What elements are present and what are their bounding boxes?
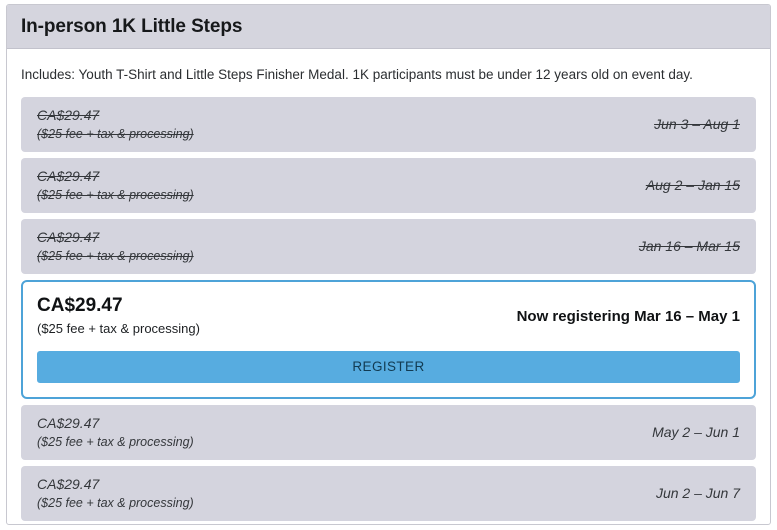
- price-date-range: Jan 16 – Mar 15: [639, 238, 740, 254]
- price-left: CA$29.47 ($25 fee + tax & processing): [37, 166, 194, 205]
- price-amount: CA$29.47: [37, 474, 194, 494]
- price-fine-print: ($25 fee + tax & processing): [37, 247, 194, 266]
- price-left: CA$29.47 ($25 fee + tax & processing): [37, 413, 194, 452]
- price-amount: CA$29.47: [37, 105, 194, 125]
- price-fine-print: ($25 fee + tax & processing): [37, 125, 194, 144]
- includes-description: Includes: Youth T-Shirt and Little Steps…: [21, 49, 756, 97]
- price-left: CA$29.47 ($25 fee + tax & processing): [37, 105, 194, 144]
- price-fine-print: ($25 fee + tax & processing): [37, 186, 194, 205]
- register-button[interactable]: REGISTER: [37, 351, 740, 383]
- price-amount: CA$29.47: [37, 227, 194, 247]
- page-title: In-person 1K Little Steps: [21, 16, 242, 38]
- price-amount: CA$29.47: [37, 166, 194, 186]
- price-row-active[interactable]: CA$29.47 ($25 fee + tax & processing) No…: [21, 280, 756, 399]
- price-fine-print: ($25 fee + tax & processing): [37, 433, 194, 452]
- price-date-range: Aug 2 – Jan 15: [646, 177, 740, 193]
- active-row-top: CA$29.47 ($25 fee + tax & processing) No…: [37, 294, 740, 339]
- price-amount: CA$29.47: [37, 413, 194, 433]
- panel-header: In-person 1K Little Steps: [7, 5, 770, 49]
- status-badge: Now registering Mar 16 – May 1: [517, 294, 740, 325]
- registration-panel: In-person 1K Little Steps Includes: Yout…: [6, 4, 771, 525]
- price-amount: CA$29.47: [37, 294, 200, 318]
- panel-body: Includes: Youth T-Shirt and Little Steps…: [7, 49, 770, 521]
- price-fine-print: ($25 fee + tax & processing): [37, 494, 194, 513]
- price-fine-print: ($25 fee + tax & processing): [37, 319, 200, 339]
- price-row-expired-3: CA$29.47 ($25 fee + tax & processing) Ja…: [21, 219, 756, 274]
- price-date-range: Jun 2 – Jun 7: [656, 485, 740, 501]
- price-row-upcoming-2: CA$29.47 ($25 fee + tax & processing) Ju…: [21, 466, 756, 521]
- price-left: CA$29.47 ($25 fee + tax & processing): [37, 474, 194, 513]
- price-row-expired-2: CA$29.47 ($25 fee + tax & processing) Au…: [21, 158, 756, 213]
- price-date-range: Jun 3 – Aug 1: [654, 116, 740, 132]
- price-date-range: May 2 – Jun 1: [652, 424, 740, 440]
- price-row-expired-1: CA$29.47 ($25 fee + tax & processing) Ju…: [21, 97, 756, 152]
- price-left: CA$29.47 ($25 fee + tax & processing): [37, 294, 200, 339]
- price-row-upcoming-1: CA$29.47 ($25 fee + tax & processing) Ma…: [21, 405, 756, 460]
- price-left: CA$29.47 ($25 fee + tax & processing): [37, 227, 194, 266]
